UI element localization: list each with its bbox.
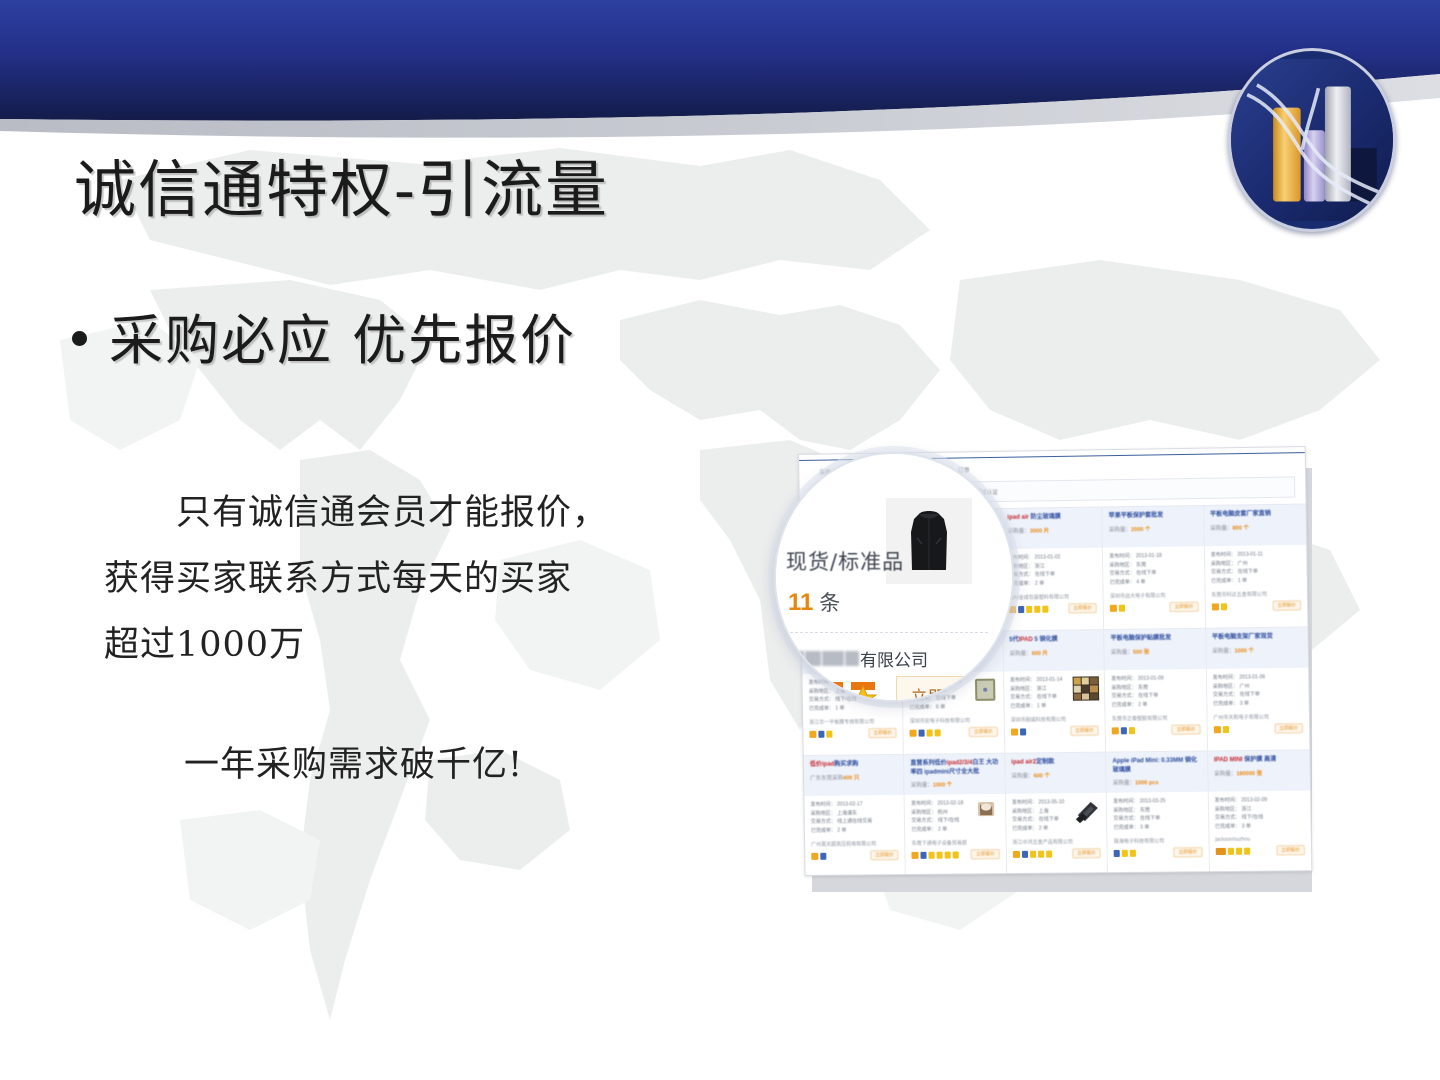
product-card-body: 发布时间： 2013-01-14采购地区： 浙江交易方式： 在线下单已完成单： …	[1004, 670, 1105, 712]
product-card-body: 发布时间： 2013-01-09采购地区： 东莞交易方式： 在线下单已完成单： …	[1105, 669, 1206, 711]
trust-badge-icon	[820, 852, 826, 859]
trust-badge-icon	[1034, 605, 1040, 612]
product-company: 东莞下通电子设备贸易部	[912, 839, 1000, 847]
product-card-header: 平板电脑皮套厂家直销采购量：800 个	[1204, 504, 1306, 546]
trust-badge-icon	[1130, 849, 1136, 856]
trust-badge-icon	[818, 730, 824, 737]
trust-badge-icon	[1011, 728, 1018, 735]
product-card[interactable]: ipad air2定制款采购量：600 个发布时间： 2013-05-10采购地…	[1005, 753, 1108, 876]
product-title[interactable]: 5代IPAD 5 钢化膜	[1009, 635, 1097, 645]
tagline: 一年采购需求破千亿!	[104, 736, 804, 787]
trust-badge-icon	[921, 851, 927, 858]
product-badge-row: 立即报价	[1009, 603, 1097, 614]
trust-badge-icon	[1042, 605, 1048, 612]
trust-badge-icon	[1112, 727, 1119, 734]
product-quantity: 采购量：800 个	[1210, 522, 1300, 531]
product-quantity: 采购量：600 片	[1009, 648, 1097, 657]
product-title[interactable]: 平板电脑保护贴膜批发	[1110, 634, 1198, 644]
trust-badge-icon	[1244, 847, 1250, 854]
product-card-body: 发布时间： 2013-05-10采购地区： 上海交易方式： 在线下单已完成单： …	[1006, 793, 1107, 835]
company-logo	[1228, 48, 1396, 232]
product-card-header: 平板电脑支架厂家现货采购量：1000 个	[1206, 627, 1308, 669]
product-card-body: 发布时间： 2013-01-06采购地区： 广州交易方式： 在线下单已完成单： …	[1206, 668, 1308, 711]
quote-button[interactable]: 立即报价	[1068, 603, 1097, 613]
result-count-number: 11	[788, 589, 813, 616]
product-card-header: IPAD MINI 保护膜 高清采购量：180000 张	[1208, 750, 1310, 791]
quote-button[interactable]: 立即报价	[1276, 845, 1305, 855]
product-thumbnail	[1075, 799, 1102, 823]
star-icon	[816, 680, 846, 702]
trust-badge-icon	[809, 730, 816, 737]
slide: 诚信通特权-引流量 采购必应 优先报价 只有诚信通会员才能报价， 获得买家联系方…	[0, 0, 1440, 1080]
product-badge-row: 立即报价	[1112, 724, 1200, 735]
product-company: 珠海电子科技有限公司	[1114, 837, 1202, 845]
quote-button[interactable]: 立即报价	[969, 727, 998, 737]
product-title[interactable]: Apple iPad Mini: 0.33MM 钢化玻璃膜	[1112, 757, 1201, 775]
trust-badge-icon	[1215, 847, 1225, 854]
trust-badge-icon	[927, 729, 933, 736]
product-title[interactable]: 直营系列低价ipad2/3/4白王 大功率四 ipadmini尺寸全大批	[910, 759, 998, 777]
product-quantity: 采购量：3000 片	[1008, 525, 1096, 534]
redaction-block	[805, 651, 821, 666]
product-card-header: 低价ipad购买求购广东东莞采购400 只	[804, 755, 904, 796]
bullet-label: 采购必应 优先报价	[109, 296, 576, 375]
trust-badge-icon	[1114, 849, 1120, 856]
product-card-header: 5代IPAD 5 钢化膜采购量：600 片	[1003, 630, 1104, 671]
product-company: jackson/suzhou	[1215, 836, 1305, 843]
product-card-header: 直营系列低价ipad2/3/4白王 大功率四 ipadmini尺寸全大批采购量：…	[904, 754, 1004, 795]
product-card-header: ipad air2定制款采购量：600 个	[1005, 753, 1106, 794]
trust-badge-icon	[1013, 850, 1020, 857]
product-spec: 已完成单： 2 单	[1008, 578, 1096, 588]
rating-stars	[784, 680, 878, 702]
product-badge-row: 立即报价	[1013, 848, 1101, 859]
trust-badge-icon	[1122, 849, 1128, 856]
product-company: 深圳市耐威科技有限公司	[1011, 716, 1099, 724]
trust-badge-icon	[1129, 727, 1135, 734]
trust-badge-icon	[1046, 850, 1052, 857]
trust-badge-icon	[826, 730, 832, 737]
trust-badge-icon	[1236, 847, 1242, 854]
product-card[interactable]: 5代IPAD 5 钢化膜采购量：600 片发布时间： 2013-01-14采购地…	[1003, 630, 1106, 754]
product-spec: 已完成单： 3 单	[1113, 822, 1201, 831]
product-badge-row: 立即报价	[910, 727, 998, 738]
product-spec: 已完成单： 3 单	[1213, 698, 1303, 708]
product-title[interactable]: ipad air2定制款	[1011, 758, 1099, 768]
product-thumbnail	[974, 800, 1001, 824]
quote-button[interactable]: 立即报价	[1070, 726, 1099, 736]
product-spec: 已完成单： 1 单	[809, 703, 897, 713]
trust-badge-icon	[935, 729, 941, 736]
product-title[interactable]: 苹果平板保护套批发	[1109, 511, 1197, 521]
stock-label: 现货/标准品	[786, 546, 904, 576]
product-card-body: 发布时间： 2013-03-25采购地区： 东莞交易方式： 在线下单已完成单： …	[1107, 792, 1208, 834]
product-card-header: ipad air 防尘玻璃膜采购量：3000 片	[1001, 508, 1102, 550]
product-card-body: 发布时间： 2013-02-17采购地区： 上海浦东交易方式： 线上通在线交易已…	[804, 795, 904, 837]
result-count-unit: 条	[819, 592, 840, 615]
trust-badge-icon	[1110, 604, 1117, 611]
product-card[interactable]: 平板电脑皮套厂家直销采购量：800 个发布时间： 2013-01-11采购地区：…	[1204, 504, 1308, 628]
quote-button[interactable]: 立即报价	[1171, 724, 1200, 734]
quote-button[interactable]: 立即报价	[868, 728, 897, 738]
trust-badge-icon	[1018, 605, 1024, 612]
redaction-block	[845, 651, 859, 666]
product-badge-row: 立即报价	[811, 850, 899, 861]
trust-badge-icon	[910, 729, 917, 736]
product-quantity: 采购量：1000 个	[1212, 645, 1302, 654]
trust-badge-icon	[1022, 850, 1028, 857]
product-quantity: 采购量：500 张	[1111, 647, 1199, 656]
product-card[interactable]: Apple iPad Mini: 0.33MM 钢化玻璃膜采购量：1000 pc…	[1106, 751, 1209, 875]
quote-button[interactable]: 立即报价	[1274, 723, 1303, 733]
product-company: 深圳市远大电子有限公司	[1110, 592, 1198, 600]
product-badge-row: 立即报价	[1011, 726, 1099, 737]
quote-button[interactable]: 立即报价	[971, 849, 1000, 859]
product-quantity: 采购量：600 个	[1011, 770, 1099, 779]
product-title[interactable]: ipad air 防尘玻璃膜	[1007, 513, 1095, 523]
trust-badge-icon	[1020, 728, 1026, 735]
product-badge-row: 立即报价	[1110, 602, 1198, 613]
header-banner	[0, 0, 1440, 150]
trust-badge-icon	[1038, 850, 1044, 857]
quote-button[interactable]: 立即报价	[1173, 847, 1202, 857]
product-card[interactable]: 低价ipad购买求购广东东莞采购400 只发布时间： 2013-02-17采购地…	[804, 755, 906, 876]
page-title: 诚信通特权-引流量	[74, 157, 609, 224]
quote-button[interactable]: 立即报价	[870, 850, 899, 860]
product-badge-row: 立即报价	[809, 728, 897, 739]
trust-badge-icon	[1119, 604, 1125, 611]
product-company: 杭州全成包装塑料有限公司	[1009, 593, 1097, 601]
divider	[780, 632, 988, 633]
magnifier-content: 现货/标准品 11 条 有限公司 立即报价	[776, 454, 1012, 700]
product-spec: 已完成单： 2 单	[911, 825, 999, 834]
product-spec: 已完成单： 1 单	[1010, 701, 1098, 711]
trust-badge-icon	[929, 851, 935, 858]
trust-badge-icon	[811, 852, 818, 859]
product-card-body: 发布时间： 2013-01-02采购地区： 浙江交易方式： 在线下单已完成单： …	[1002, 548, 1103, 591]
body-line-1: 只有诚信通会员才能报价，	[104, 480, 724, 546]
trust-badge-icon	[1227, 847, 1233, 854]
star-icon	[848, 680, 878, 702]
redaction-block	[784, 651, 804, 666]
magnifier-lens: 现货/标准品 11 条 有限公司 立即报价	[774, 452, 1014, 702]
product-spec: 已完成单： 2 单	[1012, 823, 1100, 832]
quote-button[interactable]: 立即报价	[1170, 602, 1199, 612]
star-icon	[784, 680, 814, 702]
product-company: 广州市天和电子有限公司	[1213, 713, 1303, 721]
product-company: 浙江中鸿五金产品有限公司	[1012, 838, 1100, 846]
product-card[interactable]: 平板电脑保护贴膜批发采购量：500 张发布时间： 2013-01-09采购地区：…	[1104, 629, 1207, 753]
quote-now-button[interactable]: 立即报价	[896, 676, 994, 702]
trust-badge-icon	[945, 851, 951, 858]
product-thumbnail	[1073, 676, 1100, 700]
product-card[interactable]: 苹果平板保护套批发采购量：2000 个发布时间： 2013-01-18采购地区：…	[1102, 506, 1205, 630]
product-spec: 已完成单： 4 单	[1110, 577, 1198, 587]
embedded-screenshot: 采购 产品 企业 订单 最新发布 交易量排序 现货/标准品 通过认证 苹果 ip…	[752, 396, 1312, 896]
trust-badge-icon	[919, 729, 925, 736]
product-card-body: 发布时间： 2013-01-11采购地区： 广州交易方式： 在线下单已完成单： …	[1204, 545, 1306, 588]
trust-badge-icon	[1213, 726, 1220, 733]
product-title[interactable]: IPAD MINI 保护膜 高清	[1214, 755, 1304, 765]
trust-badge-icon	[1026, 605, 1032, 612]
product-quantity: 广东东莞采购400 只	[810, 773, 898, 782]
product-spec: 已完成单： 2 单	[811, 826, 899, 835]
product-company: 东莞市科达五金有限公司	[1211, 590, 1301, 598]
product-card-body: 发布时间： 2013-02-09采购地区： 浙江交易方式： 线下/在线已完成单：…	[1208, 791, 1310, 833]
trust-badge-icon	[1121, 727, 1127, 734]
body-paragraph: 只有诚信通会员才能报价， 获得买家联系方式每天的买家 超过1000万	[104, 480, 724, 678]
product-company: 东莞市正泰塑胶有限公司	[1112, 714, 1200, 722]
product-title[interactable]: 平板电脑皮套厂家直销	[1210, 510, 1300, 520]
product-quantity: 采购量：1000 个	[911, 780, 999, 789]
product-quantity: 采购量：2000 个	[1109, 524, 1197, 533]
product-card[interactable]: 平板电脑支架厂家现货采购量：1000 个发布时间： 2013-01-06采购地区…	[1206, 627, 1310, 751]
product-card[interactable]: ipad air 防尘玻璃膜采购量：3000 片发布时间： 2013-01-02…	[1001, 507, 1104, 631]
product-card[interactable]: 直营系列低价ipad2/3/4白王 大功率四 ipadmini尺寸全大批采购量：…	[904, 754, 1007, 876]
product-title[interactable]: 平板电脑支架厂家现货	[1212, 633, 1302, 643]
trust-badge-icon	[1211, 603, 1218, 610]
product-spec: 已完成单： 2 单	[1111, 700, 1199, 710]
product-quantity: 采购量：180000 张	[1214, 768, 1304, 777]
product-card-header: 苹果平板保护套批发采购量：2000 个	[1102, 506, 1203, 548]
product-badge-row: 立即报价	[1213, 723, 1303, 734]
product-company: 广州黑天超高压机电有限公司	[811, 840, 899, 848]
product-spec: 已完成单： 6 单	[909, 702, 997, 712]
product-card-header: Apple iPad Mini: 0.33MM 钢化玻璃膜采购量：1000 pc…	[1106, 751, 1207, 792]
product-badge-row: 立即报价	[1211, 600, 1301, 611]
body-line-2: 获得买家联系方式每天的买家	[104, 546, 724, 612]
result-count: 11 条	[788, 587, 840, 617]
trust-badge-icon	[1222, 726, 1228, 733]
product-badge-row: 立即报价	[912, 849, 1000, 860]
product-card[interactable]: IPAD MINI 保护膜 高清采购量：180000 张发布时间： 2013-0…	[1208, 750, 1312, 874]
product-spec: 已完成单： 3 单	[1215, 821, 1305, 830]
product-spec: 已完成单： 1 单	[1211, 576, 1301, 586]
trust-badge-icon	[953, 851, 959, 858]
company-name: 有限公司	[784, 646, 928, 671]
product-card-body: 发布时间： 2013-01-18采购地区： 东莞交易方式： 在线下单已完成单： …	[1103, 546, 1204, 589]
company-suffix: 有限公司	[860, 646, 928, 671]
product-card-header: 平板电脑保护贴膜批发采购量：500 张	[1104, 629, 1205, 670]
quote-button[interactable]: 立即报价	[1072, 848, 1101, 858]
product-quantity: 采购量：1000 pcs	[1113, 778, 1201, 787]
quote-button[interactable]: 立即报价	[1272, 600, 1301, 610]
trust-badge-icon	[912, 851, 919, 858]
trust-badge-icon	[1030, 850, 1036, 857]
product-card-body: 发布时间： 2013-02-18采购地区： 杭州交易方式： 线下/在线已完成单：…	[905, 794, 1005, 836]
body-line-3: 超过1000万	[104, 612, 724, 678]
redaction-block	[822, 651, 844, 666]
product-title[interactable]: 低价ipad购买求购	[810, 760, 898, 770]
trust-badge-icon	[1221, 603, 1227, 610]
product-badge-row: 立即报价	[1114, 847, 1202, 858]
product-badge-row: 立即报价	[1215, 845, 1305, 856]
product-company: 深圳市宏电子科技有限公司	[910, 717, 998, 725]
product-company: 浙江华一平板膜专用有限公司	[809, 718, 897, 726]
trust-badge-icon	[937, 851, 943, 858]
bullet-dot-icon	[72, 331, 87, 346]
bullet-item: 采购必应 优先报价	[72, 296, 576, 375]
